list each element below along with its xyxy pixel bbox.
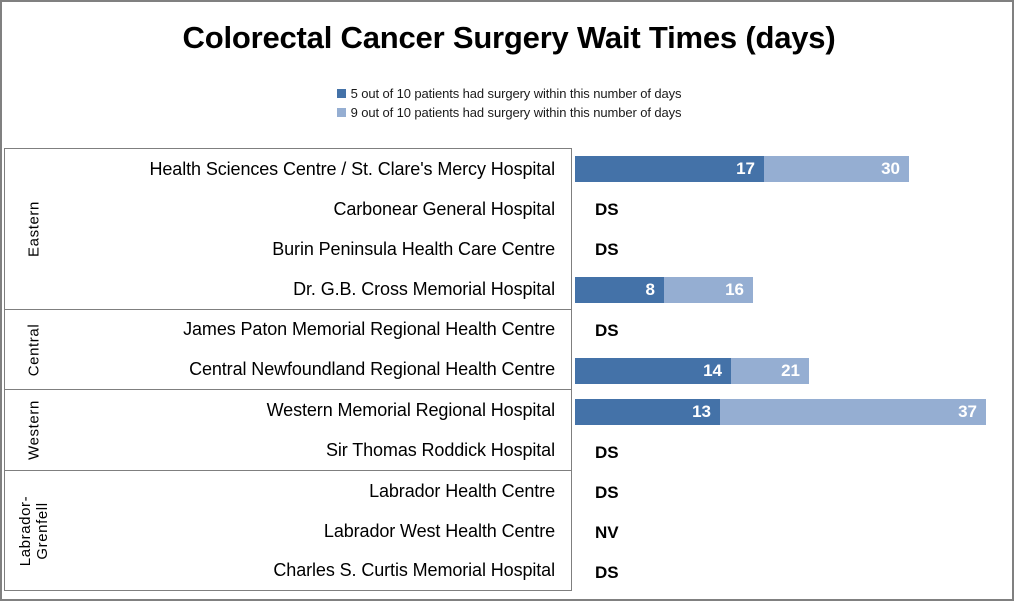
category-label-table: Eastern Health Sciences Centre / St. Cla…: [4, 148, 572, 591]
bar-row-charles-curtis: DS: [572, 553, 1012, 593]
bar-note-charles-curtis: DS: [595, 560, 619, 586]
row-label-charles-curtis: Charles S. Curtis Memorial Hospital: [63, 551, 571, 590]
chart-legend: 5 out of 10 patients had surgery within …: [2, 86, 1014, 120]
row-label-labrador-west: Labrador West Health Centre: [63, 511, 571, 551]
row-label-sir-thomas-roddick: Sir Thomas Roddick Hospital: [63, 431, 571, 471]
bar-value-p90-gb-cross: 16: [725, 280, 753, 300]
bar-value-p90-western-memorial: 37: [958, 402, 986, 422]
group-label-cell-central: Central: [5, 310, 63, 389]
bar-segment-p90-gb-cross: 16: [664, 277, 753, 303]
group-label-cell-western: Western: [5, 390, 63, 470]
bar-row-james-paton: DS: [572, 311, 1012, 351]
group-label-eastern: Eastern: [25, 201, 42, 257]
bar-note-james-paton: DS: [595, 318, 619, 344]
bar-stack-western-memorial: 13 37: [575, 399, 986, 425]
bar-segment-p90-health-sciences: 30: [764, 156, 909, 182]
bar-stack-gb-cross: 8 16: [575, 277, 753, 303]
bar-note-sir-thomas-roddick: DS: [595, 440, 619, 466]
row-label-james-paton: James Paton Memorial Regional Health Cen…: [63, 310, 571, 350]
bar-note-labrador-west: NV: [595, 520, 619, 546]
bar-row-health-sciences: 17 30: [572, 149, 1012, 189]
bar-stack-health-sciences: 17 30: [575, 156, 909, 182]
legend-item-ninetieth: 9 out of 10 patients had surgery within …: [337, 105, 682, 120]
group-block-labrador-grenfell: Labrador- Grenfell Labrador Health Centr…: [5, 471, 571, 590]
legend-item-median: 5 out of 10 patients had surgery within …: [337, 86, 682, 101]
row-label-labrador-health: Labrador Health Centre: [63, 471, 571, 511]
plot-area: Eastern Health Sciences Centre / St. Cla…: [4, 148, 1012, 595]
group-label-cell-labrador-grenfell: Labrador- Grenfell: [5, 471, 63, 590]
bar-value-p50-central-nfld: 14: [703, 361, 731, 381]
group-label-central: Central: [25, 323, 42, 376]
legend-label-ninetieth: 9 out of 10 patients had surgery within …: [351, 105, 682, 120]
row-label-health-sciences: Health Sciences Centre / St. Clare's Mer…: [63, 149, 571, 190]
group-rows-labrador-grenfell: Labrador Health Centre Labrador West Hea…: [63, 471, 571, 590]
row-label-central-nfld: Central Newfoundland Regional Health Cen…: [63, 350, 571, 390]
chart-container: Colorectal Cancer Surgery Wait Times (da…: [0, 0, 1014, 601]
bar-value-p50-health-sciences: 17: [736, 159, 764, 179]
bar-row-labrador-health: DS: [572, 473, 1012, 513]
bar-row-western-memorial: 13 37: [572, 392, 1012, 432]
bar-segment-p50-western-memorial: 13: [575, 399, 720, 425]
bar-segment-p90-western-memorial: 37: [720, 399, 986, 425]
group-block-central: Central James Paton Memorial Regional He…: [5, 310, 571, 390]
row-label-burin: Burin Peninsula Health Care Centre: [63, 230, 571, 270]
group-label-cell-eastern: Eastern: [5, 149, 63, 309]
bar-segment-p50-health-sciences: 17: [575, 156, 764, 182]
row-label-gb-cross: Dr. G.B. Cross Memorial Hospital: [63, 269, 571, 309]
group-rows-eastern: Health Sciences Centre / St. Clare's Mer…: [63, 149, 571, 309]
bar-row-gb-cross: 8 16: [572, 270, 1012, 310]
bar-note-carbonear: DS: [595, 197, 619, 223]
bars-area: 17 30 DS DS 8 16: [572, 148, 1012, 591]
group-rows-central: James Paton Memorial Regional Health Cen…: [63, 310, 571, 389]
group-block-eastern: Eastern Health Sciences Centre / St. Cla…: [5, 149, 571, 310]
bar-value-p90-health-sciences: 30: [881, 159, 909, 179]
bar-value-p90-central-nfld: 21: [781, 361, 809, 381]
bar-row-burin: DS: [572, 230, 1012, 270]
bar-segment-p50-central-nfld: 14: [575, 358, 731, 384]
bar-segment-p90-central-nfld: 21: [731, 358, 809, 384]
bar-note-burin: DS: [595, 237, 619, 263]
bar-row-sir-thomas-roddick: DS: [572, 433, 1012, 473]
bar-row-carbonear: DS: [572, 190, 1012, 230]
group-rows-western: Western Memorial Regional Hospital Sir T…: [63, 390, 571, 470]
bar-row-labrador-west: NV: [572, 513, 1012, 553]
row-label-carbonear: Carbonear General Hospital: [63, 190, 571, 230]
bar-row-central-nfld: 14 21: [572, 351, 1012, 391]
chart-title: Colorectal Cancer Surgery Wait Times (da…: [2, 20, 1014, 56]
bar-value-p50-gb-cross: 8: [646, 280, 664, 300]
row-label-western-memorial: Western Memorial Regional Hospital: [63, 390, 571, 431]
bar-note-labrador-health: DS: [595, 480, 619, 506]
bar-stack-central-nfld: 14 21: [575, 358, 809, 384]
group-label-labrador-grenfell: Labrador- Grenfell: [17, 495, 52, 565]
bar-value-p50-western-memorial: 13: [692, 402, 720, 422]
legend-swatch-ninetieth: [337, 108, 346, 117]
group-label-western: Western: [25, 400, 42, 460]
group-block-western: Western Western Memorial Regional Hospit…: [5, 390, 571, 471]
legend-label-median: 5 out of 10 patients had surgery within …: [351, 86, 682, 101]
bar-segment-p50-gb-cross: 8: [575, 277, 664, 303]
legend-swatch-median: [337, 89, 346, 98]
